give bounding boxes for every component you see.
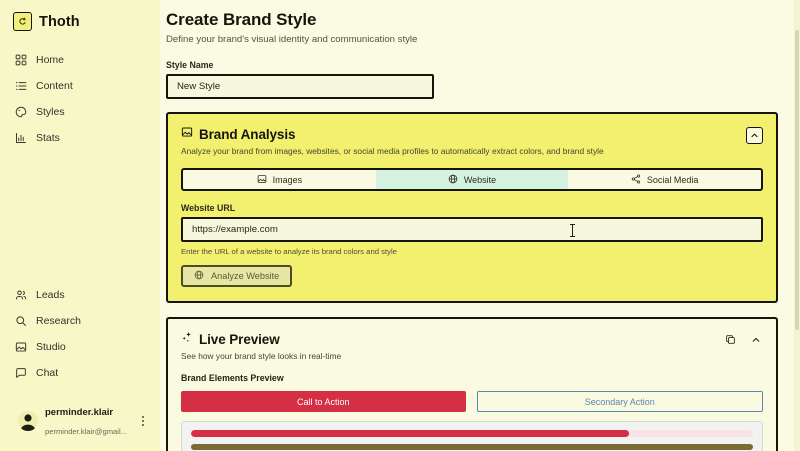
tab-social-media[interactable]: Social Media [568,170,761,189]
website-url-field: Website URL Enter the URL of a website t… [181,203,763,256]
tab-website[interactable]: Website [376,170,569,189]
more-vertical-icon[interactable] [140,416,146,426]
brand-analysis-subtitle: Analyze your brand from images, websites… [181,146,746,156]
accent-bar [191,444,753,450]
sidebar: Thoth Home Content [0,0,160,451]
brand-analysis-collapse-button[interactable] [746,127,763,144]
live-preview-header: Live Preview See how your brand style lo… [181,330,763,361]
message-icon [15,367,27,379]
page-scrollbar-thumb[interactable] [795,30,799,330]
user-text: perminder.klair perminder.klair@gmail... [45,402,133,439]
globe-icon [194,270,204,282]
user-name: perminder.klair [45,407,113,418]
sidebar-item-styles[interactable]: Styles [0,101,160,122]
live-preview-title-row: Live Preview [181,330,723,348]
page-subtitle: Define your brand's visual identity and … [166,34,778,45]
sidebar-item-label: Studio [36,341,66,353]
brand-analysis-title-row: Brand Analysis [181,125,746,143]
sidebar-item-leads[interactable]: Leads [0,284,160,305]
image-frame-icon [181,125,193,143]
preview-button-row: Call to Action Secondary Action [181,391,763,412]
brand-analysis-tabs: Images Website [181,168,763,191]
live-preview-subtitle: See how your brand style looks in real-t… [181,351,723,361]
image-icon [15,341,27,353]
sidebar-item-label: Leads [36,289,65,301]
bar-chart-icon [15,132,27,144]
website-url-label: Website URL [181,203,763,213]
brand-analysis-actions [746,125,763,144]
analyze-website-label: Analyze Website [211,271,279,281]
grid-icon [15,54,27,66]
image-icon [257,174,267,186]
sidebar-item-studio[interactable]: Studio [0,336,160,357]
thoth-logo-icon [13,12,32,31]
live-preview-actions [723,330,763,347]
brand-analysis-header: Brand Analysis Analyze your brand from i… [181,125,763,156]
brand-elements-preview-label: Brand Elements Preview [181,373,763,383]
brand-header[interactable]: Thoth [0,8,160,35]
tab-label: Images [273,175,303,185]
style-name-label: Style Name [166,60,434,70]
tab-images[interactable]: Images [183,170,376,189]
live-preview-title: Live Preview [199,332,280,347]
sidebar-item-label: Chat [36,367,58,379]
share-icon [631,174,641,186]
website-url-helper-text: Enter the URL of a website to analyze it… [181,247,763,256]
palette-icon [15,106,27,118]
sidebar-nav-primary: Home Content Styles [0,49,160,153]
user-profile[interactable]: perminder.klair perminder.klair@gmail... [6,396,154,445]
tab-label: Social Media [647,175,699,185]
preview-bars-panel [181,421,763,451]
live-preview-collapse-button[interactable] [748,332,763,347]
secondary-action-button[interactable]: Secondary Action [477,391,764,412]
brand-analysis-header-text: Brand Analysis Analyze your brand from i… [181,125,746,156]
sidebar-item-label: Content [36,80,73,92]
page-scrollbar[interactable] [794,0,800,451]
sidebar-item-chat[interactable]: Chat [0,362,160,383]
sidebar-item-label: Research [36,315,81,327]
progress-bar-track [191,430,753,437]
sidebar-item-label: Stats [36,132,60,144]
main-content: Create Brand Style Define your brand's v… [160,0,800,451]
brand-analysis-title: Brand Analysis [199,127,295,142]
sparkles-icon [181,330,193,348]
user-email: perminder.klair@gmail... [45,427,127,436]
globe-icon [448,174,458,186]
progress-bar-fill [191,430,629,437]
brand-name: Thoth [39,14,80,30]
sidebar-spacer [0,153,160,284]
live-preview-header-text: Live Preview See how your brand style lo… [181,330,723,361]
style-name-input[interactable] [166,74,434,99]
sidebar-item-content[interactable]: Content [0,75,160,96]
live-preview-card: Live Preview See how your brand style lo… [166,317,778,451]
sidebar-item-label: Home [36,54,64,66]
user-avatar-icon [18,411,38,431]
search-icon [15,315,27,327]
sidebar-nav-secondary: Leads Research Studio [0,284,160,388]
analyze-website-button[interactable]: Analyze Website [181,265,292,287]
sidebar-item-label: Styles [36,106,65,118]
call-to-action-button[interactable]: Call to Action [181,391,466,412]
copy-icon[interactable] [723,332,738,347]
users-icon [15,289,27,301]
text-cursor-icon [572,224,573,237]
sidebar-item-research[interactable]: Research [0,310,160,331]
page-title: Create Brand Style [166,10,778,30]
list-icon [15,80,27,92]
brand-analysis-card: Brand Analysis Analyze your brand from i… [166,112,778,303]
style-name-field: Style Name [166,60,434,99]
tab-label: Website [464,175,496,185]
app-root: Thoth Home Content [0,0,800,451]
sidebar-item-stats[interactable]: Stats [0,127,160,148]
sidebar-item-home[interactable]: Home [0,49,160,70]
website-url-input[interactable] [181,217,763,242]
